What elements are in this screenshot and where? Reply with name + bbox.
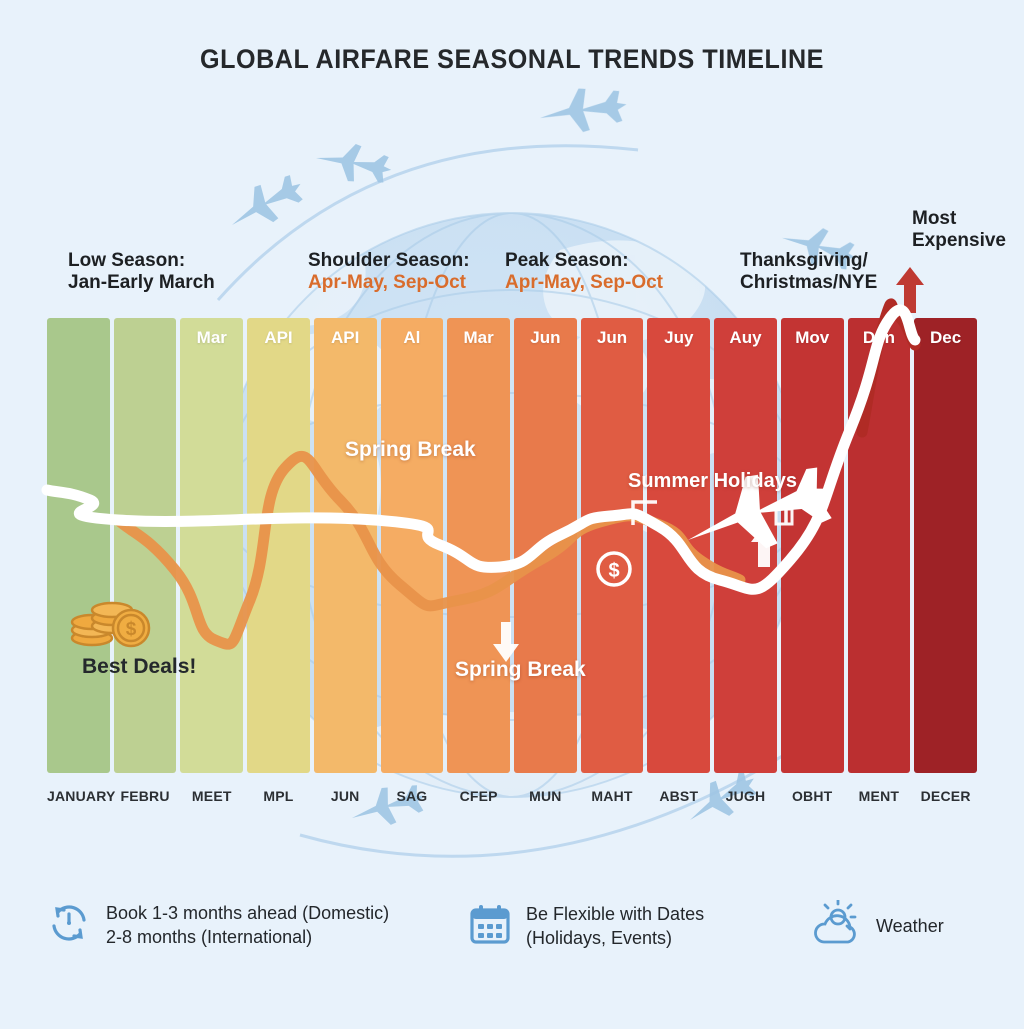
annotation-low-season-line2: Jan-Early March [68,272,215,294]
month-axis-label: DECER [914,788,977,804]
arrow-up-icon [895,265,925,315]
label-best-deals-line1: Best [82,655,128,678]
annotation-most-expensive: Most Expensive [912,208,1006,253]
month-column-top-label: Den [848,328,911,348]
footer-tip-weather: Weather [812,900,944,953]
month-column[interactable]: Al [381,318,444,773]
annotation-low-season-line1: Low Season: [68,250,215,272]
month-column[interactable]: Den [848,318,911,773]
label-spring-break-upper-line2: Break [417,438,475,461]
month-column[interactable] [47,318,110,773]
label-best-deals: Best Deals! [82,655,196,680]
annotation-most-expensive-line1: Most [912,208,1006,230]
annotation-peak-season-line2: Apr-May, Sep-Oct [505,272,663,294]
footer-tip-weather-text: Weather [876,915,944,938]
annotation-peak-season: Peak Season: Apr-May, Sep-Oct [505,250,663,295]
annotation-shoulder-season-line2: Apr-May, Sep-Oct [308,272,470,294]
month-column-top-label: Jun [581,328,644,348]
month-axis-label: CFEP [447,788,510,804]
month-column[interactable]: Auy [714,318,777,773]
month-column[interactable]: Mov [781,318,844,773]
month-column-top-label: Mar [180,328,243,348]
annotation-holiday-line2: Christmas/NYE [740,272,877,294]
label-spring-break-upper: Spring Break [345,438,476,462]
month-column-top-label: API [247,328,310,348]
month-column[interactable]: Juy [647,318,710,773]
month-axis-label: MENT [848,788,911,804]
footer-tip-flexible-dates-text: Be Flexible with Dates (Holidays, Events… [526,903,704,950]
month-column[interactable]: API [314,318,377,773]
month-column-top-label: Mar [447,328,510,348]
sun-cloud-icon [812,900,862,953]
seasonal-price-chart: MarAPIAPIAlMarJunJunJuyAuyMovDenDec [47,318,977,773]
footer-tip-flexible-dates: Be Flexible with Dates (Holidays, Events… [468,902,704,951]
month-axis-label: JANUARY [47,788,110,804]
month-axis-label: MAHT [581,788,644,804]
month-column[interactable]: Jun [514,318,577,773]
label-best-deals-line2: Deals! [133,655,196,678]
annotation-most-expensive-line2: Expensive [912,230,1006,252]
month-column-top-label: Auy [714,328,777,348]
month-axis-label: MUN [514,788,577,804]
annotation-holiday: Thanksgiving/ Christmas/NYE [740,250,877,295]
month-column-top-label: Al [381,328,444,348]
annotation-shoulder-season: Shoulder Season: Apr-May, Sep-Oct [308,250,470,295]
month-axis-label: FEBRU [114,788,177,804]
month-axis-label: JUN [314,788,377,804]
month-column[interactable] [114,318,177,773]
month-column-top-label: Dec [914,328,977,348]
month-column[interactable]: Mar [447,318,510,773]
month-column[interactable]: Mar [180,318,243,773]
label-spring-break-lower: Spring Break [455,658,586,682]
page-title: GLOBAL AIRFARE SEASONAL TRENDS TIMELINE [36,44,988,75]
annotation-peak-season-line1: Peak Season: [505,250,663,272]
footer-tip-booking-line1: Book 1-3 months ahead (Domestic) [106,902,389,925]
annotation-holiday-line1: Thanksgiving/ [740,250,877,272]
month-axis-label: MEET [180,788,243,804]
footer-tip-booking-text: Book 1-3 months ahead (Domestic) 2-8 mon… [106,902,389,949]
annotation-shoulder-season-line1: Shoulder Season: [308,250,470,272]
footer-tip-booking: Book 1-3 months ahead (Domestic) 2-8 mon… [46,900,389,951]
label-summer-holidays: Summer Holidays [628,470,797,493]
month-column[interactable]: Jun [581,318,644,773]
label-spring-break-upper-line1: Spring [345,438,412,461]
footer-tip-booking-line2: 2-8 months (International) [106,926,389,949]
month-axis-label: SAG [381,788,444,804]
infographic-canvas: GLOBAL AIRFARE SEASONAL TRENDS TIMELINE … [0,0,1024,1024]
month-axis-label: ABST [647,788,710,804]
month-axis-label: MPL [247,788,310,804]
month-column[interactable]: Dec [914,318,977,773]
month-column[interactable]: API [247,318,310,773]
footer-tip-flexible-dates-line1: Be Flexible with Dates [526,903,704,926]
footer-tip-flexible-dates-line2: (Holidays, Events) [526,927,704,950]
annotation-low-season: Low Season: Jan-Early March [68,250,215,295]
clock-refresh-icon [46,900,92,951]
month-column-top-label: Juy [647,328,710,348]
calendar-icon [468,902,512,951]
month-axis-label: OBHT [781,788,844,804]
month-column-top-label: API [314,328,377,348]
month-column-top-label: Mov [781,328,844,348]
month-axis-label: JUGH [714,788,777,804]
month-column-top-label: Jun [514,328,577,348]
